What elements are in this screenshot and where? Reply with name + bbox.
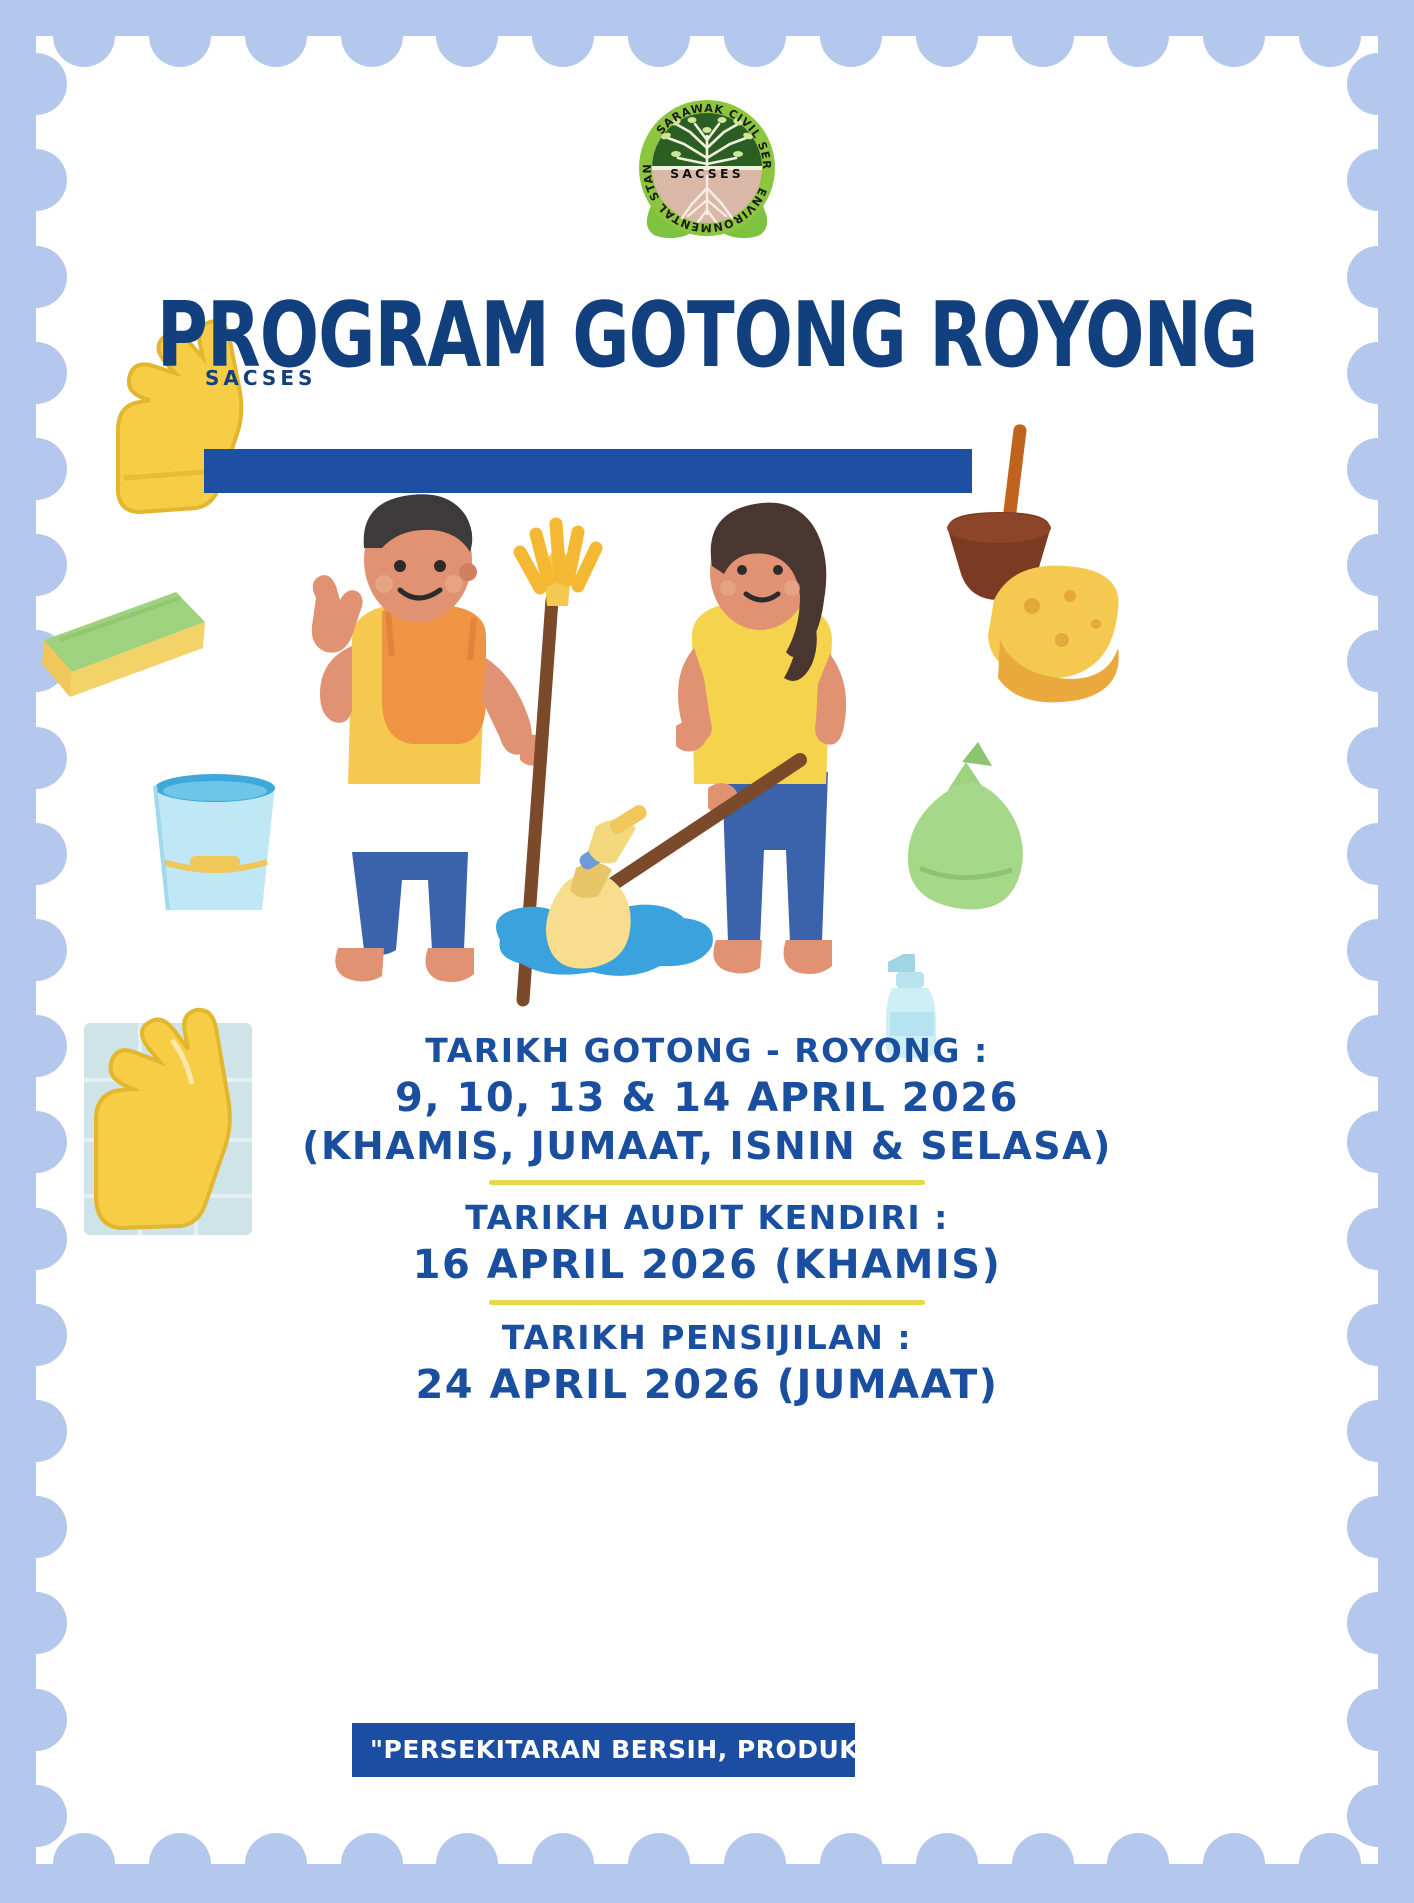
- pensijilan-date: 24 APRIL 2026 (JUMAAT): [0, 1360, 1414, 1410]
- page-subtitle: SACSES: [205, 366, 316, 390]
- svg-text:SACSES: SACSES: [670, 166, 744, 181]
- pensijilan-label: TARIKH PENSIJILAN :: [0, 1317, 1414, 1360]
- title-accent-bar: [204, 449, 972, 493]
- gotong-royong-label: TARIKH GOTONG - ROYONG :: [0, 1030, 1414, 1073]
- audit-kendiri-group: TARIKH AUDIT KENDIRI : 16 APRIL 2026 (KH…: [0, 1197, 1414, 1290]
- gotong-royong-date: 9, 10, 13 & 14 APRIL 2026: [0, 1073, 1414, 1123]
- tagline-banner: "PERSEKITARAN BERSIH, PRODUKTIVITI MENIN…: [352, 1723, 855, 1777]
- divider-rule-2: [489, 1300, 925, 1305]
- pensijilan-group: TARIKH PENSIJILAN : 24 APRIL 2026 (JUMAA…: [0, 1317, 1414, 1410]
- audit-kendiri-label: TARIKH AUDIT KENDIRI :: [0, 1197, 1414, 1240]
- gotong-royong-days: (KHAMIS, JUMAAT, ISNIN & SELASA): [0, 1123, 1414, 1171]
- audit-kendiri-date: 16 APRIL 2026 (KHAMIS): [0, 1240, 1414, 1290]
- poster-root: SACSES SARAWAK CIVIL SERVICE ENVIRONMENT…: [0, 0, 1414, 1903]
- sacses-logo: SACSES SARAWAK CIVIL SERVICE ENVIRONMENT…: [592, 96, 822, 261]
- gotong-royong-group: TARIKH GOTONG - ROYONG : 9, 10, 13 & 14 …: [0, 1030, 1414, 1170]
- divider-rule-1: [489, 1180, 925, 1185]
- info-block: TARIKH GOTONG - ROYONG : 9, 10, 13 & 14 …: [0, 1030, 1414, 1412]
- tagline-text: "PERSEKITARAN BERSIH, PRODUKTIVITI MENIN…: [352, 1723, 855, 1777]
